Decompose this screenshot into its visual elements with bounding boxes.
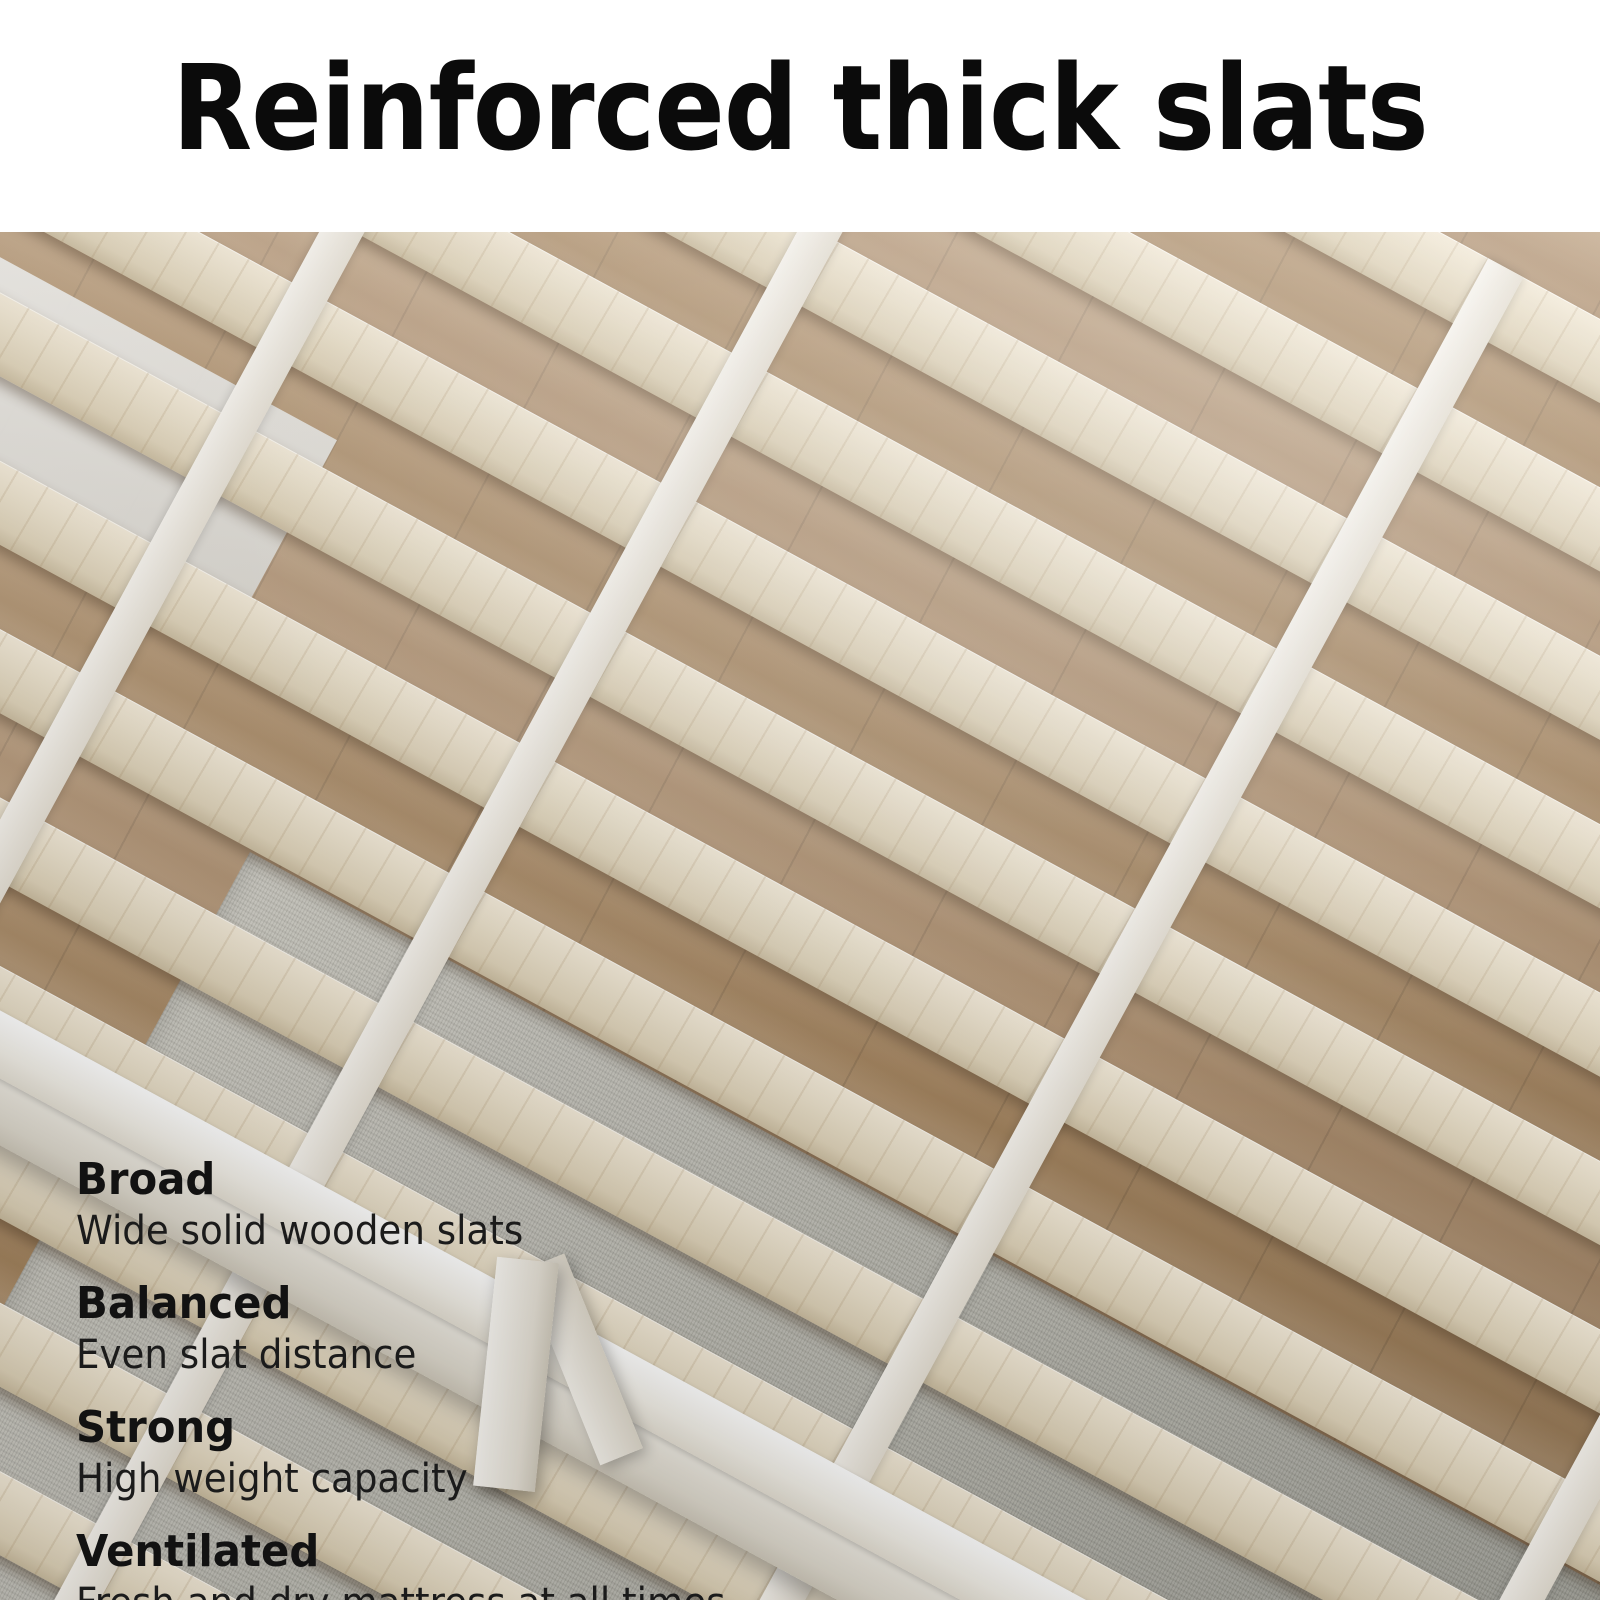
header-band: Reinforced thick slats <box>0 0 1600 232</box>
feature-item-ventilated: Ventilated Fresh and dry mattress at all… <box>76 1527 976 1600</box>
feature-description: Even slat distance <box>76 1331 913 1379</box>
page-title: Reinforced thick slats <box>96 48 1504 168</box>
feature-item-balanced: Balanced Even slat distance <box>76 1279 976 1379</box>
feature-description: High weight capacity <box>76 1455 913 1503</box>
feature-title: Balanced <box>76 1279 931 1329</box>
feature-description: Wide solid wooden slats <box>76 1207 913 1255</box>
feature-item-strong: Strong High weight capacity <box>76 1403 976 1503</box>
feature-item-broad: Broad Wide solid wooden slats <box>76 1155 976 1255</box>
feature-title: Ventilated <box>76 1527 931 1577</box>
product-feature-image: Broad Wide solid wooden slats Balanced E… <box>0 0 1600 1600</box>
feature-title: Strong <box>76 1403 931 1453</box>
feature-list: Broad Wide solid wooden slats Balanced E… <box>76 1155 976 1600</box>
feature-title: Broad <box>76 1155 931 1205</box>
feature-description: Fresh and dry mattress at all times <box>76 1579 913 1600</box>
